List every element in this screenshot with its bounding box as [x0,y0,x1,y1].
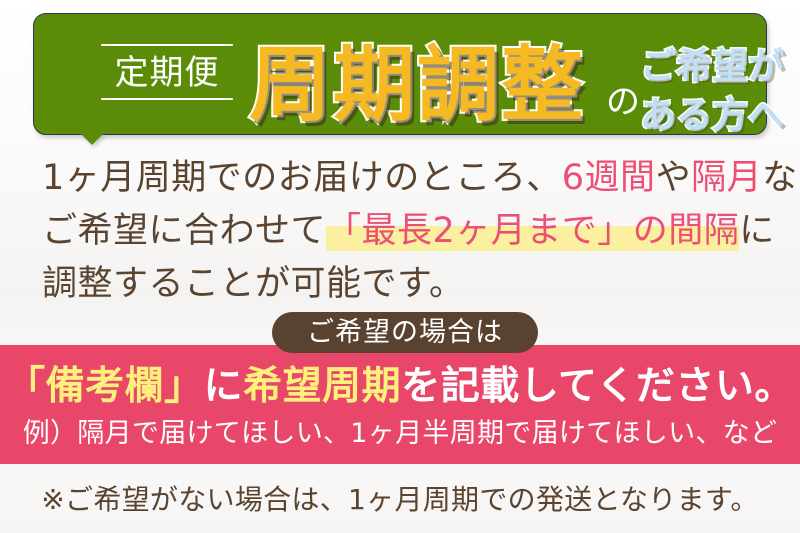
body-line-1-text-c: など [762,158,800,198]
body-line-2: ご希望に合わせて「最長2ヶ月まで」の間隔に [42,205,772,258]
body-line-2-text-a: ご希望に合わせて [42,211,326,251]
header-bubble: 定期便 周期調整 の ご希望が ある方へ [33,13,767,135]
header-wish-line-2: ある方へ [640,91,800,140]
pink-headline-text-b: を記載してください。 [401,364,794,409]
pink-headline-emphasis-a: 「備考欄」 [6,364,204,409]
header-connector: の [606,82,640,122]
subscription-tag: 定期便 [92,44,242,100]
body-line-1-emphasis-b: 隔月 [691,158,762,198]
body-line-1-text-b: や [656,158,692,198]
footer-note: ※ご希望がない場合は、1ヶ月周期での発送となります。 [0,482,800,518]
body-line-2-highlight: 「最長2ヶ月まで」の間隔 [326,211,739,251]
tag-rule-top [101,44,233,46]
header-title: 周期調整 [249,36,585,136]
pink-example-text: 例）隔月で届けてほしい、1ヶ月半周期で届けてほしい、など [0,417,800,451]
header-wish-line-1: ご希望が [640,42,800,91]
body-line-2-text-b: に [739,211,775,251]
wish-case-badge-label: ご希望の場合は [307,318,503,348]
header-wish-block: ご希望が ある方へ [640,42,800,140]
tag-rule-bottom [101,98,233,100]
body-paragraph: 1ヶ月周期でのお届けのところ、6週間や隔月など ご希望に合わせて「最長2ヶ月まで… [42,152,772,311]
body-line-1-emphasis-a: 6週間 [562,158,656,198]
wish-case-badge: ご希望の場合は [272,312,538,353]
pink-headline-emphasis-b: 希望周期 [243,364,401,409]
body-line-1-text-a: 1ヶ月周期でのお届けのところ、 [42,158,562,198]
subscription-tag-label: 定期便 [92,52,242,94]
pink-headline-text-a: に [204,364,244,409]
bubble-tail-icon [80,133,104,145]
promo-banner: 定期便 周期調整 の ご希望が ある方へ 1ヶ月周期でのお届けのところ、6週間や… [0,0,800,533]
body-line-1: 1ヶ月周期でのお届けのところ、6週間や隔月など [42,152,772,205]
pink-section: 「備考欄」に希望周期を記載してください。 例）隔月で届けてほしい、1ヶ月半周期で… [0,345,800,464]
body-line-3: 調整することが可能です。 [42,258,772,311]
pink-headline: 「備考欄」に希望周期を記載してください。 [0,363,800,411]
